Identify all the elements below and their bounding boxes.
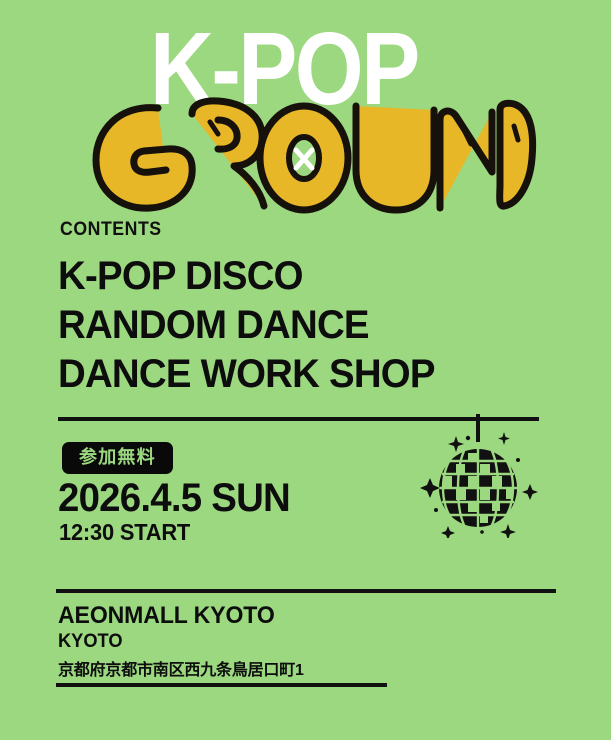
divider-middle xyxy=(56,589,556,593)
contents-label: CONTENTS xyxy=(60,219,162,241)
free-entry-badge: 参加無料 xyxy=(62,442,173,474)
event-date: 2026.4.5 SUN xyxy=(58,476,290,521)
disco-ball-body xyxy=(439,449,517,527)
disco-ball-icon xyxy=(412,414,548,538)
contents-item-3: DANCE WORK SHOP xyxy=(58,350,538,399)
logo-block: K-POP xyxy=(0,0,611,215)
ground-wordmark xyxy=(88,96,540,214)
poster-canvas: K-POP xyxy=(0,0,611,740)
divider-bottom xyxy=(56,683,387,687)
contents-item-2: RANDOM DANCE xyxy=(58,301,538,350)
event-start-time: 12:30 START xyxy=(59,519,190,546)
contents-item-1: K-POP DISCO xyxy=(58,252,538,301)
disco-ball-string xyxy=(476,414,480,442)
venue-name: AEONMALL KYOTO xyxy=(58,602,275,630)
contents-list: K-POP DISCO RANDOM DANCE DANCE WORK SHOP xyxy=(58,252,558,400)
venue-city: KYOTO xyxy=(58,631,123,653)
venue-address: 京都府京都市南区西九条鳥居口町1 xyxy=(58,656,304,680)
